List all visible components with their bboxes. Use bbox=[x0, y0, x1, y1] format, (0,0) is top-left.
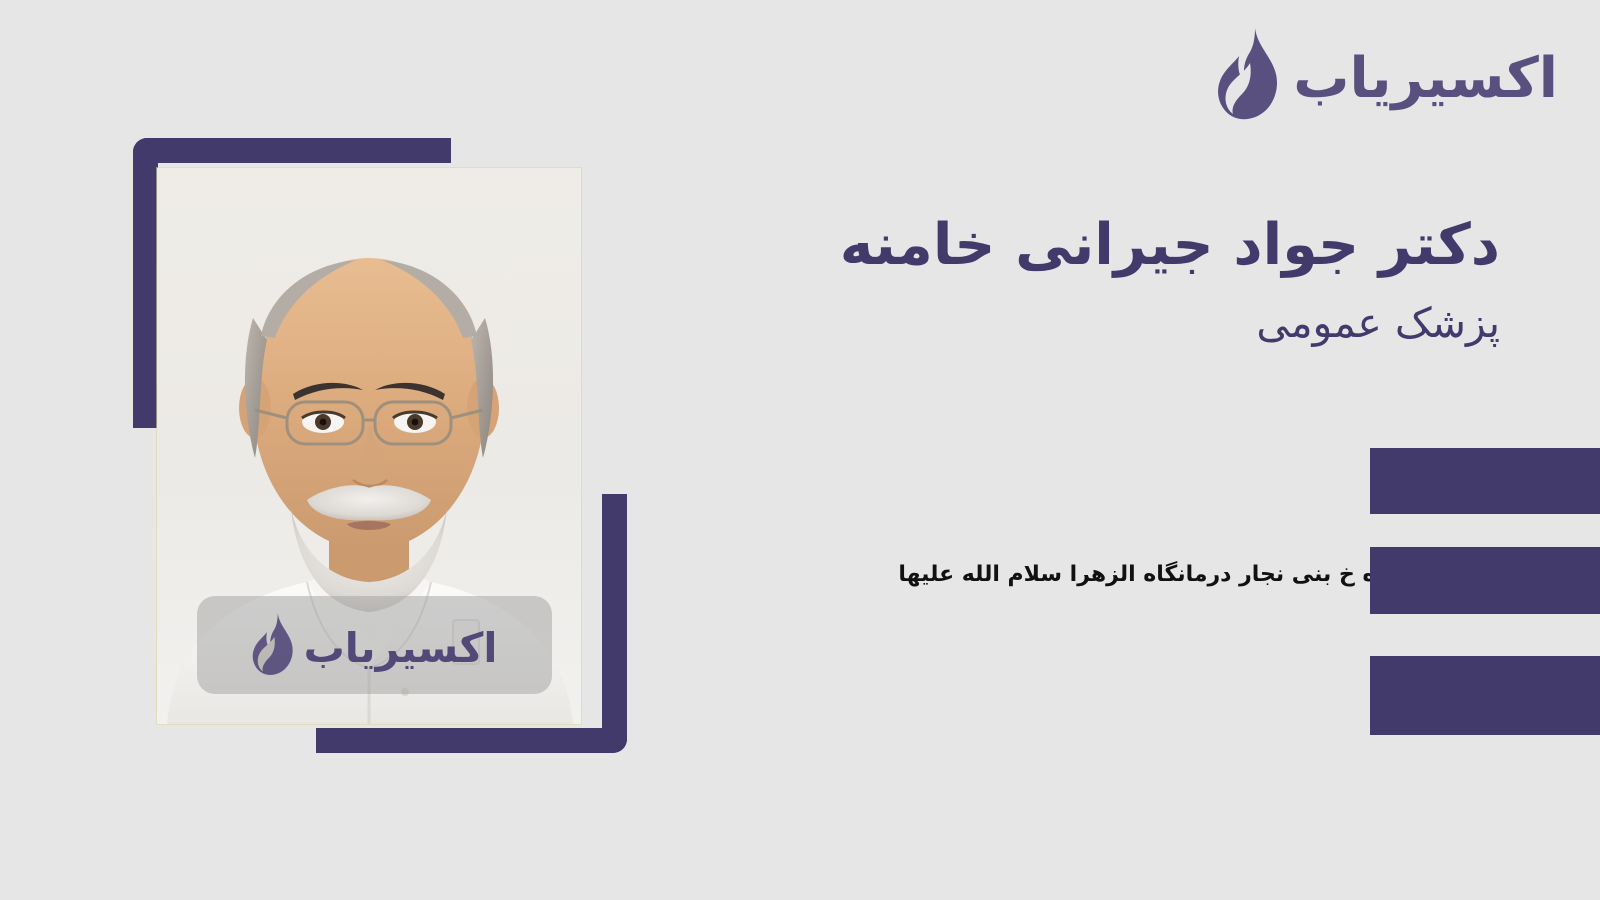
photo-watermark: اکسیریاب bbox=[197, 596, 552, 694]
flame-drop-icon bbox=[252, 612, 294, 678]
flame-drop-icon bbox=[1217, 28, 1279, 122]
decorative-bar-2 bbox=[1370, 547, 1600, 614]
doctor-info: دکتر جواد جیرانی خامنه پزشک عمومی bbox=[680, 210, 1500, 351]
decorative-bar-3 bbox=[1370, 656, 1600, 735]
watermark-wordmark: اکسیریاب bbox=[304, 628, 498, 669]
photo-block: اکسیریاب bbox=[133, 138, 627, 753]
doctor-name: دکتر جواد جیرانی خامنه bbox=[680, 210, 1500, 281]
doctor-profile-card: اکسیریاب bbox=[0, 0, 1600, 900]
brand-wordmark: اکسیریاب bbox=[1293, 51, 1558, 107]
decorative-bar-1 bbox=[1370, 448, 1600, 514]
doctor-specialty: پزشک عمومی bbox=[680, 297, 1500, 350]
brand-logo[interactable]: اکسیریاب bbox=[1217, 28, 1558, 122]
